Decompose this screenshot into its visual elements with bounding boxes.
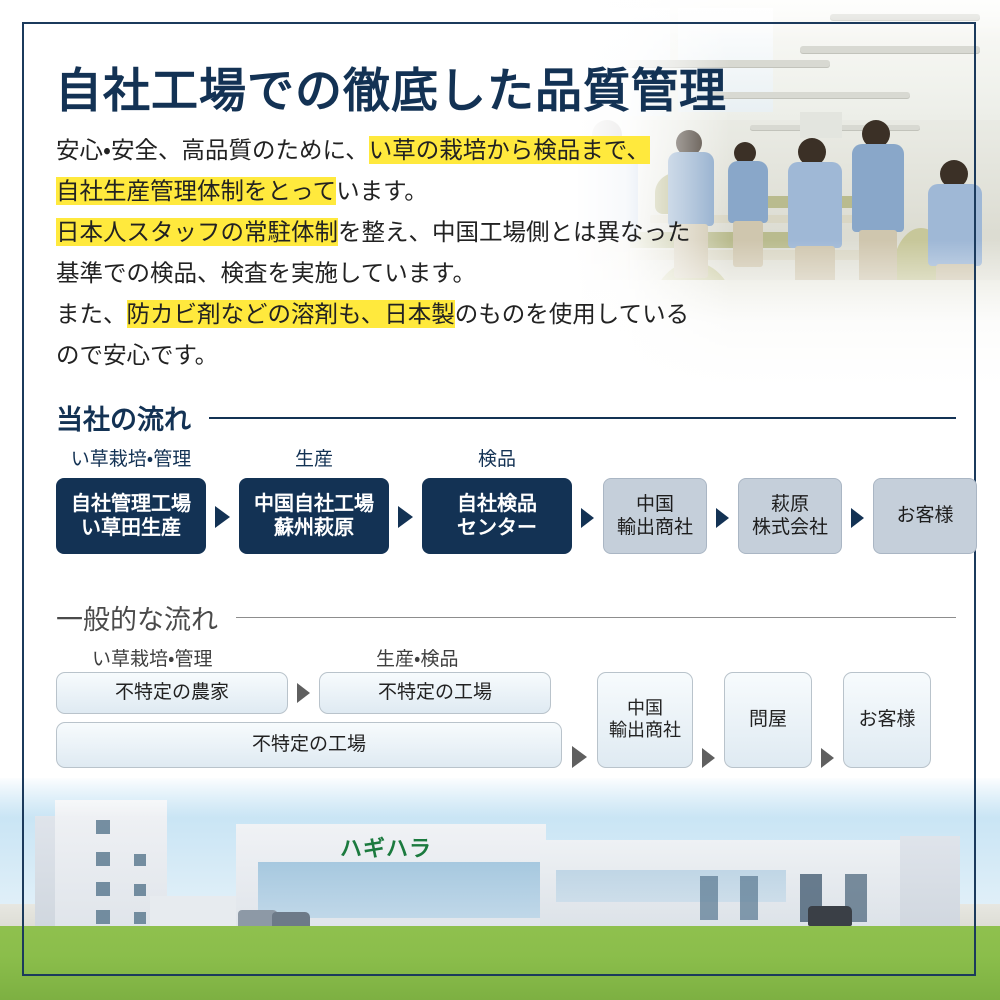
flow-step-6-box[interactable]: お客様	[873, 478, 977, 554]
intro-line-4: 基準での検品、検査を実施しています。	[56, 253, 696, 294]
general-step-exporter[interactable]: 中国 輸出商社	[597, 672, 693, 768]
intro-line-3: 日本人スタッフの常駐体制を整え、中国工場側とは異なった	[56, 212, 696, 253]
flow-step-1-line1: 自社管理工場	[71, 492, 191, 516]
our-flow-header: 当社の流れ	[56, 398, 956, 437]
poster-canvas: ハギハラ 自社工場での徹底した品質管理 安心・安全、高品質のために、い草の栽培か…	[0, 0, 1000, 1000]
intro-line-2: 自社生産管理体制をとっています。	[56, 171, 696, 212]
flow-step-6-line1: お客様	[896, 504, 953, 527]
flow-arrow-4-icon	[716, 508, 729, 528]
page-title: 自社工場での徹底した品質管理	[55, 52, 727, 121]
flow-step-6[interactable]: お客様	[873, 449, 977, 554]
general-flow-captions: い草栽培・管理 生産・検品	[56, 644, 616, 668]
general-arrow-4-icon	[821, 748, 834, 768]
flow-step-3-line1: 自社検品	[457, 492, 537, 516]
factory-exterior-photo: ハギハラ	[0, 778, 1000, 1000]
general-left-group: 不特定の農家 不特定の工場 不特定の工場	[56, 672, 562, 768]
general-flow-header: 一般的な流れ	[56, 598, 956, 637]
our-flow-diagram: い草栽培・管理 自社管理工場 い草田生産 生産 中国自社工場 蘇州萩原 検品	[56, 444, 977, 554]
general-arrow-1-icon	[297, 683, 310, 703]
flow-step-3-caption: 検品	[478, 444, 516, 471]
intro-line-3-plain: を整え、中国工場側とは異なった	[338, 219, 691, 245]
flow-step-2-box[interactable]: 中国自社工場 蘇州萩原	[239, 478, 389, 554]
flow-step-5[interactable]: 萩原 株式会社	[738, 449, 842, 554]
flow-arrow-2-icon	[398, 506, 413, 528]
flow-arrow-3-icon	[581, 508, 594, 528]
flow-step-5-line1: 萩原	[752, 493, 828, 516]
intro-line-5-plain-b: のものを使用している	[455, 301, 689, 327]
general-caption-2: 生産・検品	[376, 644, 458, 671]
flow-step-3-box[interactable]: 自社検品 センター	[422, 478, 572, 554]
flow-step-5-box[interactable]: 萩原 株式会社	[738, 478, 842, 554]
intro-line-5-highlight: 防カビ剤などの溶剤も、日本製	[127, 300, 455, 328]
general-flow-diagram: 不特定の農家 不特定の工場 不特定の工場 中国 輸出商社 問屋 お客様	[56, 672, 931, 768]
flow-step-1-caption: い草栽培・管理	[71, 444, 191, 471]
flow-step-3-line2: センター	[457, 516, 537, 540]
general-arrow-3-icon	[702, 748, 715, 768]
building-sign: ハギハラ	[340, 831, 432, 863]
intro-line-5-plain-a: また、	[56, 301, 127, 327]
intro-line-5: また、防カビ剤などの溶剤も、日本製のものを使用している	[56, 294, 696, 335]
our-flow-heading: 当社の流れ	[56, 398, 191, 437]
flow-step-2-caption: 生産	[295, 444, 333, 471]
flow-step-2[interactable]: 生産 中国自社工場 蘇州萩原	[239, 444, 389, 554]
flow-step-1[interactable]: い草栽培・管理 自社管理工場 い草田生産	[56, 444, 206, 554]
flow-step-2-line1: 中国自社工場	[254, 492, 374, 516]
intro-line-1-plain: 安心・安全、高品質のために、	[56, 137, 369, 163]
general-step-exporter-line1: 中国	[609, 698, 681, 720]
intro-line-3-highlight: 日本人スタッフの常駐体制	[56, 218, 338, 246]
intro-line-2-plain: います。	[336, 178, 428, 204]
flow-step-3[interactable]: 検品 自社検品 センター	[422, 444, 572, 554]
intro-line-1-highlight: い草の栽培から検品まで、	[369, 136, 650, 164]
general-step-wholesaler[interactable]: 問屋	[724, 672, 812, 768]
intro-line-6: ので安心です。	[56, 335, 696, 376]
general-step-exporter-line2: 輸出商社	[609, 720, 681, 742]
intro-line-1: 安心・安全、高品質のために、い草の栽培から検品まで、	[56, 130, 696, 171]
general-arrow-2-icon	[572, 746, 587, 768]
general-flow-rule	[236, 617, 956, 619]
flow-step-4-box[interactable]: 中国 輸出商社	[603, 478, 707, 554]
flow-step-4-line2: 輸出商社	[617, 516, 693, 539]
flow-step-2-line2: 蘇州萩原	[254, 516, 374, 540]
our-flow-rule	[209, 417, 956, 419]
intro-paragraph: 安心・安全、高品質のために、い草の栽培から検品まで、 自社生産管理体制をとってい…	[56, 130, 696, 376]
flow-arrow-5-icon	[851, 508, 864, 528]
general-step-customer[interactable]: お客様	[843, 672, 931, 768]
flow-step-5-line2: 株式会社	[752, 516, 828, 539]
general-step-farm[interactable]: 不特定の農家	[56, 672, 288, 714]
general-flow-heading: 一般的な流れ	[56, 598, 218, 637]
general-step-factory-wide[interactable]: 不特定の工場	[56, 722, 562, 768]
flow-step-1-line2: い草田生産	[71, 516, 191, 540]
flow-step-4[interactable]: 中国 輸出商社	[603, 449, 707, 554]
general-step-factory[interactable]: 不特定の工場	[319, 672, 551, 714]
flow-arrow-1-icon	[215, 506, 230, 528]
flow-step-1-box[interactable]: 自社管理工場 い草田生産	[56, 478, 206, 554]
general-top-row: 不特定の農家 不特定の工場	[56, 672, 562, 714]
general-caption-1: い草栽培・管理	[92, 644, 212, 671]
flow-step-4-line1: 中国	[617, 493, 693, 516]
intro-line-2-highlight: 自社生産管理体制をとって	[56, 177, 336, 205]
